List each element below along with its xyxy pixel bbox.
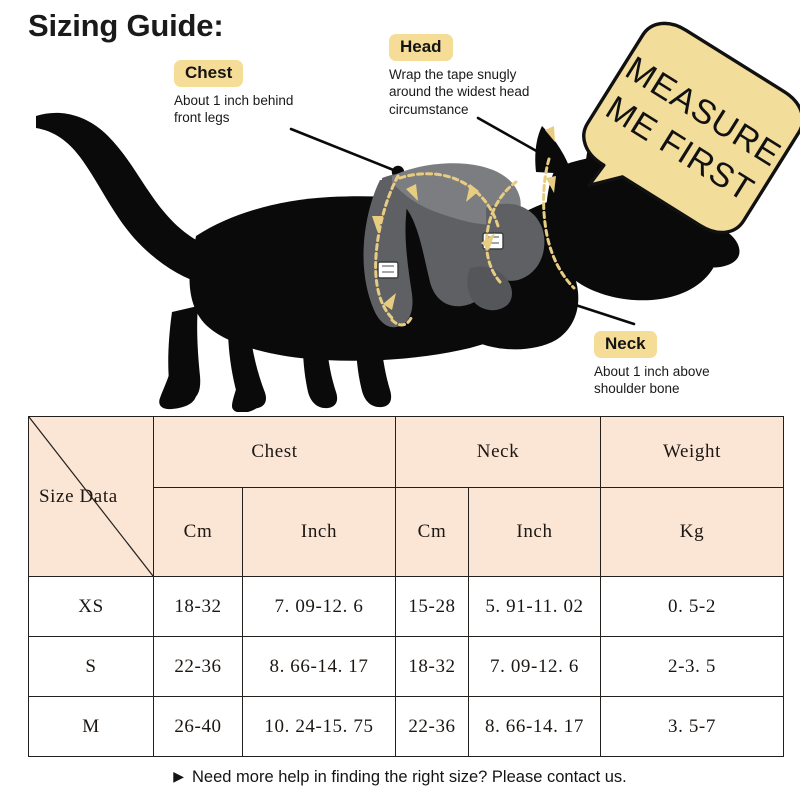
cell-size: M [29, 697, 154, 757]
footer-note: ▶Need more help in finding the right siz… [0, 768, 800, 787]
table-corner-cell: Size Data [29, 417, 154, 577]
harness-buckle-lower [378, 262, 398, 278]
table-unit-neck-inch: Inch [469, 488, 601, 577]
table-group-neck: Neck [396, 417, 601, 488]
cell-neck-cm: 15-28 [396, 577, 469, 637]
cell-chest-cm: 18-32 [154, 577, 243, 637]
cell-size: XS [29, 577, 154, 637]
cell-chest-inch: 10. 24-15. 75 [243, 697, 396, 757]
table-unit-weight-kg: Kg [601, 488, 784, 577]
cell-chest-cm: 22-36 [154, 637, 243, 697]
cell-chest-cm: 26-40 [154, 697, 243, 757]
callout-head-description: Wrap the tape snugly around the widest h… [389, 66, 529, 118]
sizing-guide-page: Sizing Guide: [0, 0, 800, 800]
cell-size: S [29, 637, 154, 697]
callout-head-label: Head [389, 34, 453, 61]
callout-chest-description: About 1 inch behind front legs [174, 92, 293, 127]
table-row: S 22-36 8. 66-14. 17 18-32 7. 09-12. 6 2… [29, 637, 784, 697]
cell-neck-cm: 18-32 [396, 637, 469, 697]
table-unit-chest-cm: Cm [154, 488, 243, 577]
cell-chest-inch: 7. 09-12. 6 [243, 577, 396, 637]
cell-neck-inch: 5. 91-11. 02 [469, 577, 601, 637]
table-unit-neck-cm: Cm [396, 488, 469, 577]
callout-head: Head Wrap the tape snugly around the wid… [389, 34, 529, 118]
cell-chest-inch: 8. 66-14. 17 [243, 637, 396, 697]
table-row: M 26-40 10. 24-15. 75 22-36 8. 66-14. 17… [29, 697, 784, 757]
cell-neck-inch: 8. 66-14. 17 [469, 697, 601, 757]
table-row: XS 18-32 7. 09-12. 6 15-28 5. 91-11. 02 … [29, 577, 784, 637]
cell-neck-cm: 22-36 [396, 697, 469, 757]
table-corner-label: Size Data [39, 486, 118, 508]
chest-leader-line [291, 129, 404, 178]
table-group-chest: Chest [154, 417, 396, 488]
cell-weight-kg: 0. 5-2 [601, 577, 784, 637]
callout-neck-label: Neck [594, 331, 657, 358]
table-group-weight: Weight [601, 417, 784, 488]
cell-weight-kg: 3. 5-7 [601, 697, 784, 757]
size-chart-table: Size Data Chest Neck Weight Cm Inch Cm I… [28, 416, 784, 757]
footer-note-text: Need more help in finding the right size… [192, 768, 627, 786]
triangle-right-icon: ▶ [173, 768, 184, 785]
callout-chest: Chest About 1 inch behind front legs [174, 60, 293, 127]
callout-neck-description: About 1 inch above shoulder bone [594, 363, 710, 398]
cell-weight-kg: 2-3. 5 [601, 637, 784, 697]
cell-neck-inch: 7. 09-12. 6 [469, 637, 601, 697]
callout-chest-label: Chest [174, 60, 243, 87]
callout-neck: Neck About 1 inch above shoulder bone [594, 331, 710, 398]
table-unit-chest-inch: Inch [243, 488, 396, 577]
table-header-row-groups: Size Data Chest Neck Weight [29, 417, 784, 488]
